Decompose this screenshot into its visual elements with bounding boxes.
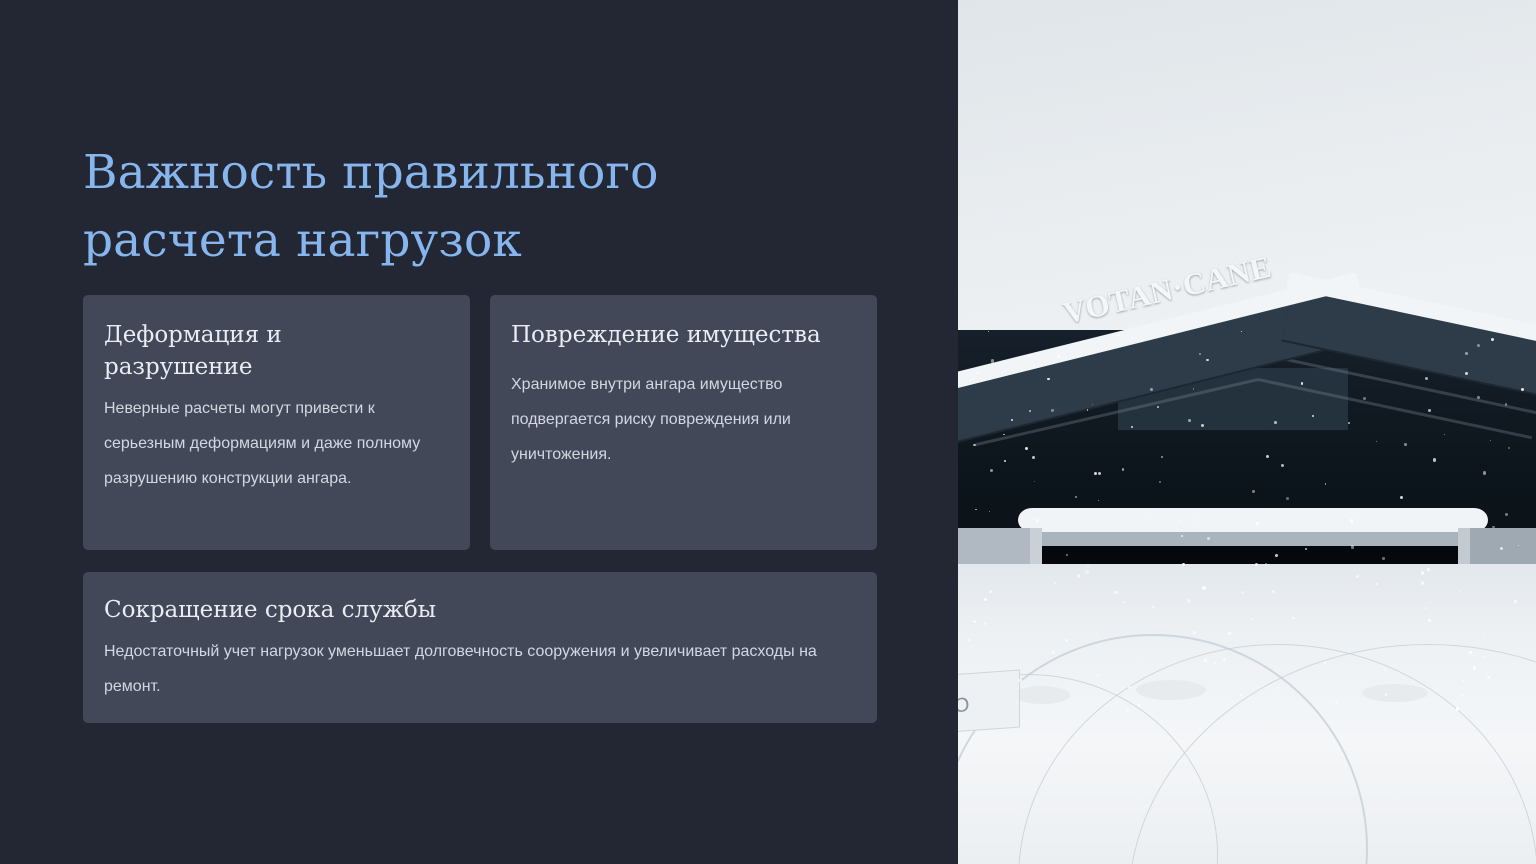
card-body: Неверные расчеты могут привести к серьез… <box>104 391 456 496</box>
snowflake <box>1011 419 1013 421</box>
snowflake <box>1202 586 1206 590</box>
card-heading: Повреждение имущества <box>511 319 861 351</box>
snowflake <box>1114 591 1117 594</box>
snowflake <box>1193 519 1195 521</box>
snowflake <box>1348 422 1350 424</box>
snowflake <box>1128 686 1130 688</box>
snowflake <box>984 622 987 625</box>
snowflake <box>1491 338 1494 341</box>
snow-pile <box>1136 680 1206 700</box>
snow-pile <box>1014 686 1070 704</box>
snowflake <box>1363 397 1366 400</box>
content-pane: Важность правильного расчета нагрузок Де… <box>0 0 958 864</box>
snowflake <box>1206 359 1209 362</box>
snowflake <box>1335 701 1338 704</box>
snowflake <box>973 620 976 623</box>
snowflake <box>989 590 992 593</box>
snowflake <box>1375 583 1377 585</box>
snowflake <box>1256 522 1259 525</box>
snowflake <box>1461 694 1464 697</box>
door-lintel-snow <box>1018 508 1488 532</box>
snowflake <box>1477 344 1480 347</box>
snowflake <box>1473 666 1476 669</box>
snowflake <box>1241 591 1244 594</box>
snowflake <box>1193 631 1196 634</box>
snowflake <box>1305 548 1307 550</box>
graffiti-tag: Ɔ <box>958 693 971 718</box>
snowflake <box>1266 455 1269 458</box>
snowflake <box>1140 332 1142 334</box>
snowflake <box>1029 410 1031 412</box>
page-title: Важность правильного расчета нагрузок <box>83 139 783 275</box>
snowflake <box>1057 355 1060 358</box>
card-body: Недостаточный учет нагрузок уменьшает до… <box>104 634 844 704</box>
snowflake <box>984 366 985 367</box>
snowflake <box>1138 704 1140 706</box>
snowflake <box>1240 694 1242 696</box>
snowflake <box>1051 409 1053 411</box>
snowflake <box>1400 496 1403 499</box>
snowflake <box>1085 570 1089 574</box>
snowflake <box>1201 424 1204 427</box>
snowflake <box>1272 590 1275 593</box>
snowflake <box>1286 497 1289 500</box>
snowflake <box>1456 707 1459 710</box>
snowflake <box>1036 519 1039 522</box>
snowflake <box>1350 519 1353 522</box>
snowflake <box>1032 456 1035 459</box>
snowflake <box>1292 617 1295 620</box>
snowflake <box>1004 460 1006 462</box>
leaning-panel: Ɔ <box>958 669 1020 732</box>
card-property-damage[interactable]: Повреждение имущества Хранимое внутри ан… <box>490 295 877 550</box>
card-heading: Сокращение срока службы <box>104 594 804 626</box>
snowflake <box>1382 557 1385 560</box>
snowflake <box>1427 568 1430 571</box>
snowflake <box>1483 633 1485 635</box>
snowflake <box>975 509 977 511</box>
card-service-life[interactable]: Сокращение срока службы Недостаточный уч… <box>83 572 877 723</box>
snow-pile <box>1362 684 1428 702</box>
snowflake <box>991 359 994 362</box>
snowflake <box>1275 554 1278 557</box>
snowflake <box>1462 679 1465 682</box>
snowflake <box>1351 545 1354 548</box>
card-deformation[interactable]: Деформация и разрушение Неверные расчеты… <box>83 295 470 550</box>
snowflake <box>1058 617 1059 618</box>
slide: Важность правильного расчета нагрузок Де… <box>0 0 1536 864</box>
snowflake <box>1301 382 1303 384</box>
snowflake <box>1312 415 1313 416</box>
snowflake <box>1187 599 1190 602</box>
snowflake <box>1252 490 1254 492</box>
hangar-photo: VOTAN·CANE Ɔ <box>958 0 1536 864</box>
snowflake <box>959 564 960 565</box>
snowflake <box>1325 483 1326 484</box>
snowflake <box>1404 443 1407 446</box>
snow-ground <box>958 564 1536 864</box>
snowflake <box>1421 571 1424 574</box>
snowflake <box>1505 403 1508 406</box>
snowflake <box>1096 674 1099 677</box>
snowflake <box>1207 537 1210 540</box>
snowflake <box>1075 496 1076 497</box>
snowflake <box>1003 434 1004 435</box>
card-heading: Деформация и разрушение <box>104 319 434 383</box>
snowflake <box>1087 566 1089 568</box>
snowflake <box>1274 421 1277 424</box>
snowflake <box>1505 513 1508 516</box>
snowflake <box>1136 655 1137 656</box>
snowflake <box>1122 468 1124 470</box>
card-body: Хранимое внутри ангара имущество подверг… <box>511 367 851 472</box>
snowflake <box>967 639 970 642</box>
snowflake <box>1182 563 1185 566</box>
snowflake <box>1477 396 1480 399</box>
snowflake <box>1065 639 1068 642</box>
snowflake <box>1356 669 1357 670</box>
snowflake <box>1483 656 1486 659</box>
snowflake <box>1425 377 1428 380</box>
snowflake <box>1135 564 1136 565</box>
